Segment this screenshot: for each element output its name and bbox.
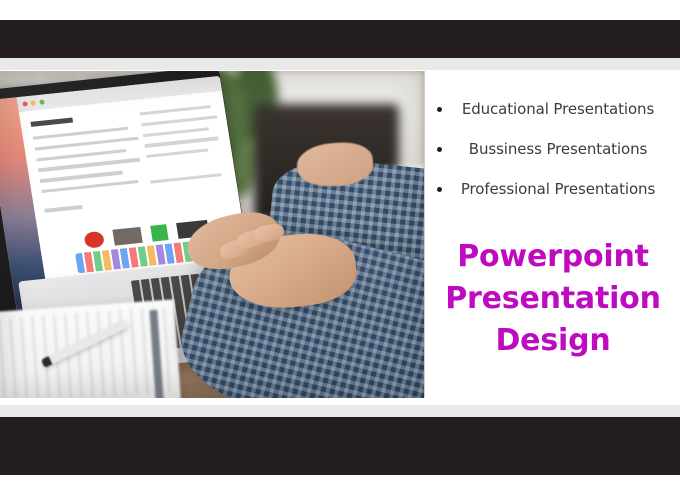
- list-item-label: Bussiness Presentations: [442, 140, 680, 158]
- list-item-label: Educational Presentations: [442, 100, 680, 118]
- page-title-line-2: Presentation: [426, 278, 680, 320]
- page-title-line-1: Powerpoint: [426, 236, 680, 278]
- list-item: Educational Presentations: [426, 89, 680, 129]
- letterbox-bar-top: [0, 20, 680, 58]
- list-item: Professional Presentations: [426, 169, 680, 209]
- laptop-photo: [0, 71, 425, 398]
- page-title-line-3: Design: [426, 320, 680, 362]
- photo-vignette: [0, 71, 424, 398]
- grey-band-top: [0, 58, 680, 70]
- list-item-label: Professional Presentations: [442, 180, 680, 198]
- list-item: Bussiness Presentations: [426, 129, 680, 169]
- service-list: Educational Presentations Bussiness Pres…: [426, 89, 680, 209]
- grey-band-bottom: [0, 405, 680, 417]
- page-title: Powerpoint Presentation Design: [426, 236, 680, 362]
- text-panel: Educational Presentations Bussiness Pres…: [426, 71, 680, 398]
- presentation-slide: Educational Presentations Bussiness Pres…: [0, 0, 680, 481]
- letterbox-bar-bottom: [0, 417, 680, 475]
